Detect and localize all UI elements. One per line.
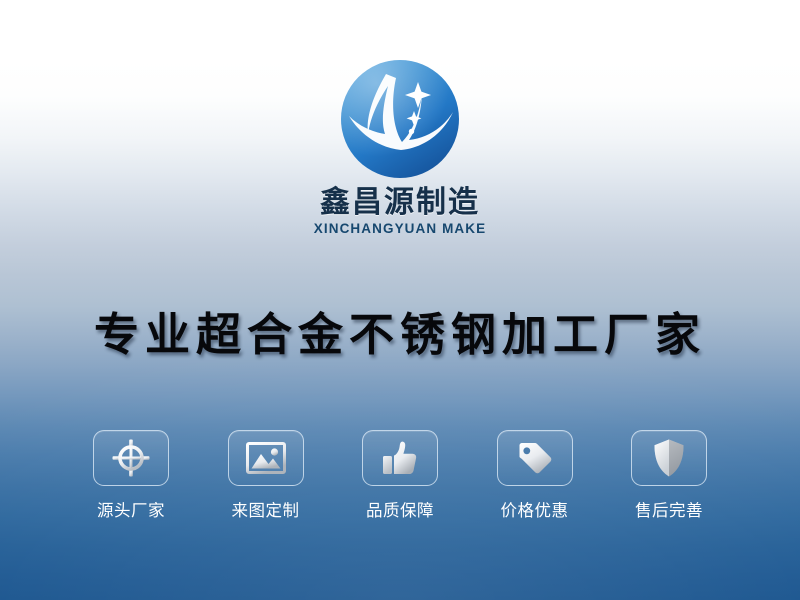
feature-icon-box (497, 430, 573, 486)
feature-icon-box (631, 430, 707, 486)
price-tag-icon (515, 439, 555, 477)
feature-label: 源头厂家 (72, 497, 190, 521)
feature-item-after-sales[interactable]: 售后完善 (610, 430, 728, 521)
swallow-emblem-icon (339, 58, 461, 180)
feature-icon-box (228, 430, 304, 486)
feature-icon-box (362, 430, 438, 486)
feature-icon-box (93, 430, 169, 486)
shield-icon (653, 438, 685, 478)
logo-company-name-en: XINCHANGYUAN MAKE (0, 221, 800, 236)
promo-banner: 鑫昌源制造 XINCHANGYUAN MAKE 专业超合金不锈钢加工厂家 (0, 0, 800, 600)
feature-item-quality[interactable]: 品质保障 (341, 430, 459, 521)
feature-item-source-factory[interactable]: 源头厂家 (72, 430, 190, 521)
picture-image-icon (246, 441, 286, 475)
feature-list: 源头厂家 来图定制 (72, 430, 728, 521)
page-title: 专业超合金不锈钢加工厂家 (0, 298, 800, 363)
logo-company-name-cn: 鑫昌源制造 (0, 186, 800, 220)
feature-label: 售后完善 (610, 497, 728, 521)
thumbs-up-icon (381, 439, 419, 477)
feature-label: 来图定制 (207, 497, 325, 521)
brand-logo-block: 鑫昌源制造 XINCHANGYUAN MAKE (0, 58, 800, 236)
crosshair-target-icon (111, 438, 151, 478)
feature-label: 价格优惠 (476, 497, 594, 521)
feature-item-price[interactable]: 价格优惠 (476, 430, 594, 521)
feature-label: 品质保障 (341, 497, 459, 521)
feature-item-custom-drawing[interactable]: 来图定制 (207, 430, 325, 521)
